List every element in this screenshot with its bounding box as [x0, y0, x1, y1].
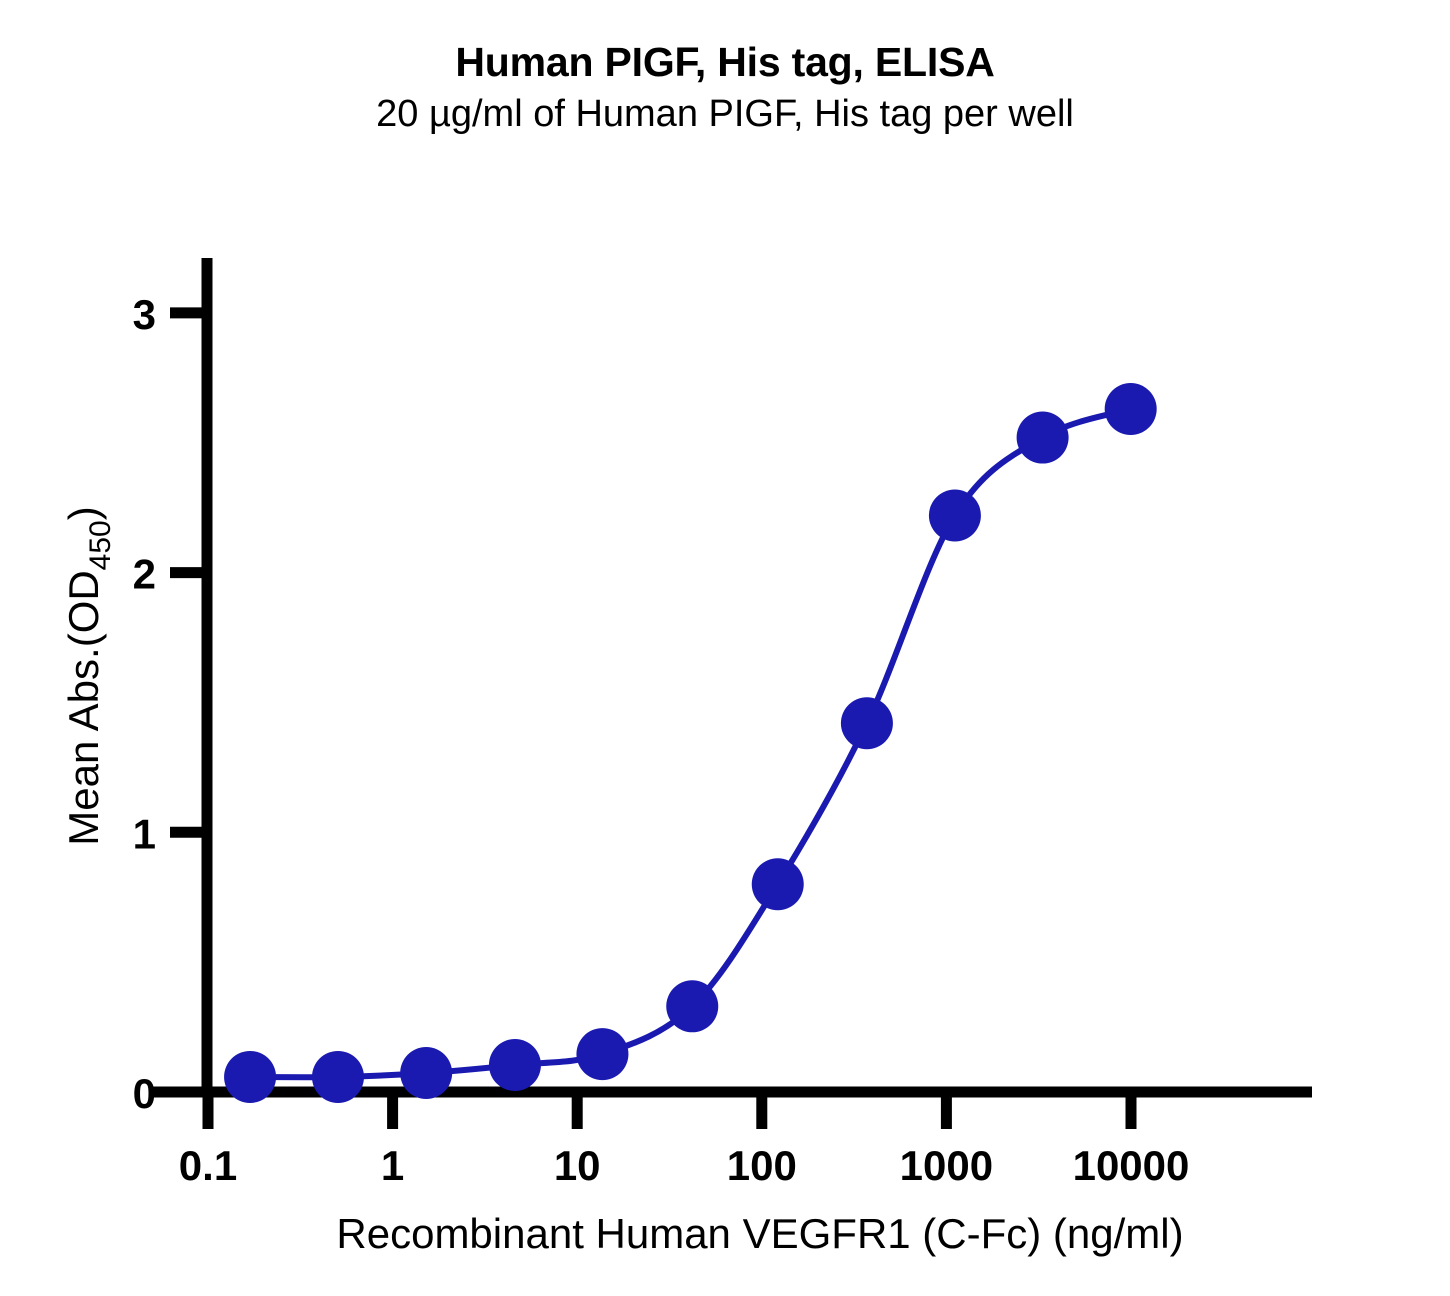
data-point-8	[929, 489, 981, 541]
y-axis-title: Mean Abs.(OD450)	[60, 506, 117, 846]
x-tick-label-100: 100	[727, 1142, 797, 1189]
x-axis-title: Recombinant Human VEGFR1 (C-Fc) (ng/ml)	[336, 1210, 1183, 1257]
series-data-points	[224, 383, 1157, 1103]
y-tick-label-0: 0	[133, 1070, 156, 1117]
data-point-5	[666, 980, 718, 1032]
x-tick-label-1: 1	[381, 1142, 404, 1189]
chart-plot-area: 0123 0.1110100100010000 Recombinant Huma…	[0, 0, 1450, 1296]
data-point-10	[1105, 383, 1157, 435]
y-axis-title-main: Mean Abs.(OD	[60, 570, 107, 845]
data-point-0	[224, 1051, 276, 1103]
data-point-6	[752, 858, 804, 910]
y-tick-label-2: 2	[133, 551, 156, 598]
data-point-9	[1017, 412, 1069, 464]
data-point-1	[312, 1051, 364, 1103]
x-tick-label-1000: 1000	[900, 1142, 993, 1189]
y-axis-title-close: )	[60, 506, 107, 520]
data-point-4	[576, 1028, 628, 1080]
y-axis-tick-labels: 0123	[133, 291, 156, 1117]
data-point-2	[400, 1047, 452, 1099]
x-tick-label-10000: 10000	[1073, 1142, 1190, 1189]
elisa-chart-figure: Human PIGF, His tag, ELISA 20 µg/ml of H…	[0, 0, 1450, 1296]
y-axis-ticks	[170, 313, 207, 1092]
data-point-3	[489, 1039, 541, 1091]
y-tick-label-3: 3	[133, 291, 156, 338]
y-axis-title-subscript: 450	[84, 520, 117, 570]
y-tick-label-1: 1	[133, 810, 156, 857]
x-tick-label-10: 10	[554, 1142, 601, 1189]
series-curve	[250, 409, 1131, 1077]
x-tick-label-0.1: 0.1	[179, 1142, 237, 1189]
data-point-7	[841, 697, 893, 749]
x-axis-tick-labels: 0.1110100100010000	[179, 1142, 1190, 1189]
